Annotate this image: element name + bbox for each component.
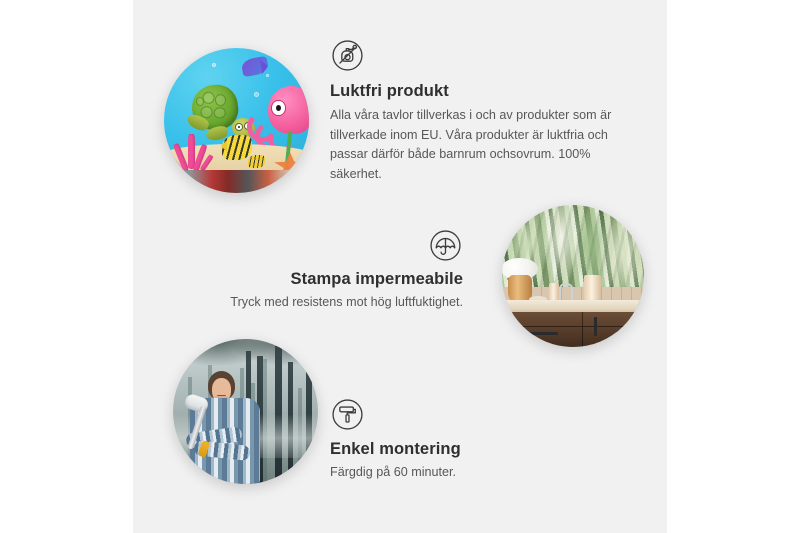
umbrella-icon (428, 228, 463, 263)
feature-title: Luktfri produkt (330, 82, 630, 101)
promo-infographic: Luktfri produkt Alla våra tavlor tillver… (0, 0, 800, 533)
candle-icon (549, 283, 559, 300)
feature-easy-mounting: Enkel montering Färgdig på 60 minuter. (330, 397, 580, 483)
drawer-handle (520, 332, 558, 335)
woman-figure (185, 371, 275, 484)
wooden-cabinet (502, 312, 644, 348)
feature-description: Alla våra tavlor tillverkas i och av pro… (330, 106, 630, 184)
feature-odourless: Luktfri produkt Alla våra tavlor tillver… (330, 38, 630, 184)
bubble-icon (266, 74, 269, 77)
faucet-icon (559, 283, 573, 300)
underwater-cartoon-circle-image (164, 48, 309, 193)
cabinet-handle (594, 317, 597, 335)
artwork-bottom-strip (164, 170, 309, 193)
candle-icon (584, 275, 601, 301)
bubble-icon (212, 63, 216, 67)
no-fragrance-icon (330, 38, 365, 73)
feature-description: Tryck med resistens mot hög luftfuktighe… (218, 293, 463, 313)
feature-waterproof: Stampa impermeabile Tryck med resistens … (218, 228, 463, 313)
paint-roller-icon (330, 397, 365, 432)
feature-title: Stampa impermeabile (218, 270, 463, 289)
feature-description: Färgdig på 60 minuter. (330, 463, 580, 483)
yellow-fish-icon (222, 135, 252, 160)
bathroom-vanity-circle-image (502, 205, 644, 347)
woman-paint-roller-circle-image (173, 339, 318, 484)
feature-title: Enkel montering (330, 440, 580, 459)
